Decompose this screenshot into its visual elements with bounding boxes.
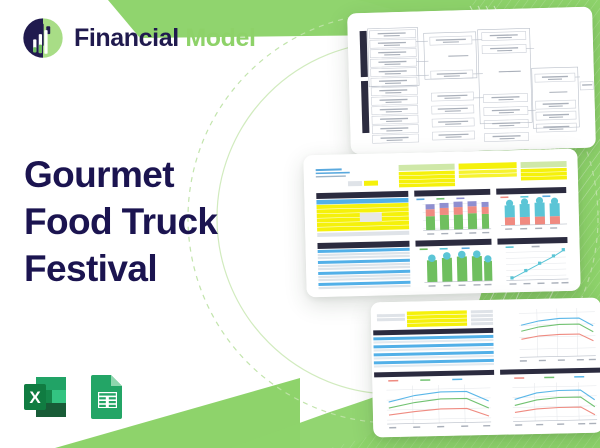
projection-charts-thumbnail [371, 298, 600, 438]
preview-card-dupont-flowchart[interactable] [347, 7, 596, 155]
brand-name: Financial Model [74, 26, 256, 51]
brand-logo: Financial Model [22, 17, 256, 59]
title-line-1: Gourmet [24, 152, 284, 199]
dupont-flowchart-thumbnail [347, 7, 596, 155]
title-line-2: Food Truck [24, 199, 284, 246]
financial-model-circle-logo [22, 17, 64, 59]
brand-name-part1: Financial [74, 24, 179, 52]
excel-icon[interactable]: X [23, 373, 67, 421]
preview-card-projection-charts[interactable] [371, 298, 600, 438]
preview-card-financial-dashboard[interactable] [303, 149, 580, 298]
format-icons: X [23, 373, 128, 421]
promo-banner: Financial Model Gourmet Food Truck Festi… [0, 0, 600, 448]
page-title: Gourmet Food Truck Festival [24, 152, 284, 293]
svg-text:X: X [29, 388, 41, 407]
title-line-3: Festival [24, 246, 284, 293]
google-sheets-icon[interactable] [88, 373, 128, 421]
brand-name-part2: Model [185, 24, 255, 52]
financial-dashboard-thumbnail [303, 149, 580, 298]
